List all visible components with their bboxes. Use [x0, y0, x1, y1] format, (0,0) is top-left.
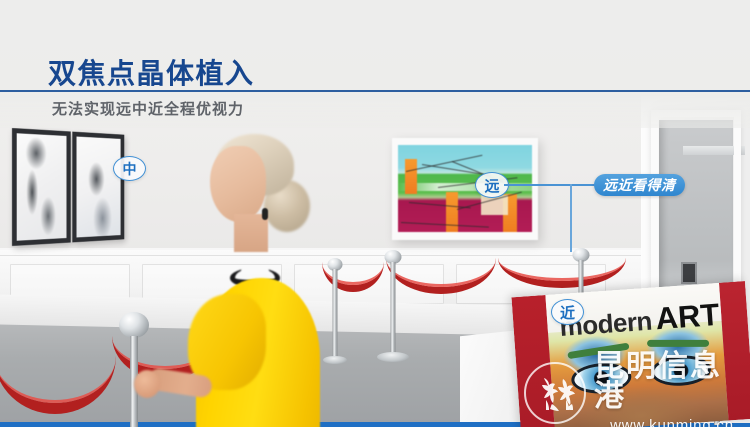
badge-mid-vision: 中	[113, 156, 146, 181]
kunming-logo-icon	[524, 362, 586, 424]
stanchion-post	[378, 250, 408, 370]
hand	[134, 370, 160, 398]
watermark: 昆明信息港 www.kunming.cn	[524, 352, 750, 427]
visitor-in-yellow-dress	[190, 118, 340, 427]
callout-label-far-near: 远近看得清	[594, 174, 685, 196]
framed-artwork-right	[72, 132, 124, 243]
badge-near-vision: 近	[551, 299, 584, 325]
artwork-canvas	[77, 137, 121, 238]
magazine-title-art: ART	[654, 297, 720, 336]
framed-artwork-left	[12, 128, 71, 246]
callout-leader-line-horizontal	[504, 184, 596, 186]
watermark-text: 昆明信息港 www.kunming.cn	[594, 352, 750, 427]
left-diptych-artwork	[12, 128, 125, 246]
page-title: 双焦点晶体植入	[48, 52, 255, 92]
callout-leader-line-vertical	[570, 184, 572, 252]
earring	[262, 208, 268, 220]
face	[210, 146, 266, 222]
painting-canvas	[398, 145, 532, 232]
painting-brush-strokes	[398, 145, 532, 232]
page-subtitle: 无法实现远中近全程优视力	[52, 98, 244, 119]
watermark-site-name: 昆明信息港	[594, 352, 750, 412]
watermark-url: www.kunming.cn	[594, 418, 750, 427]
artwork-canvas	[17, 133, 67, 240]
center-abstract-painting	[392, 138, 538, 240]
screenshot-root: modernART 远近看得清 中 远 近 双焦点晶体植入 无法实现远中近全程优…	[0, 0, 750, 427]
